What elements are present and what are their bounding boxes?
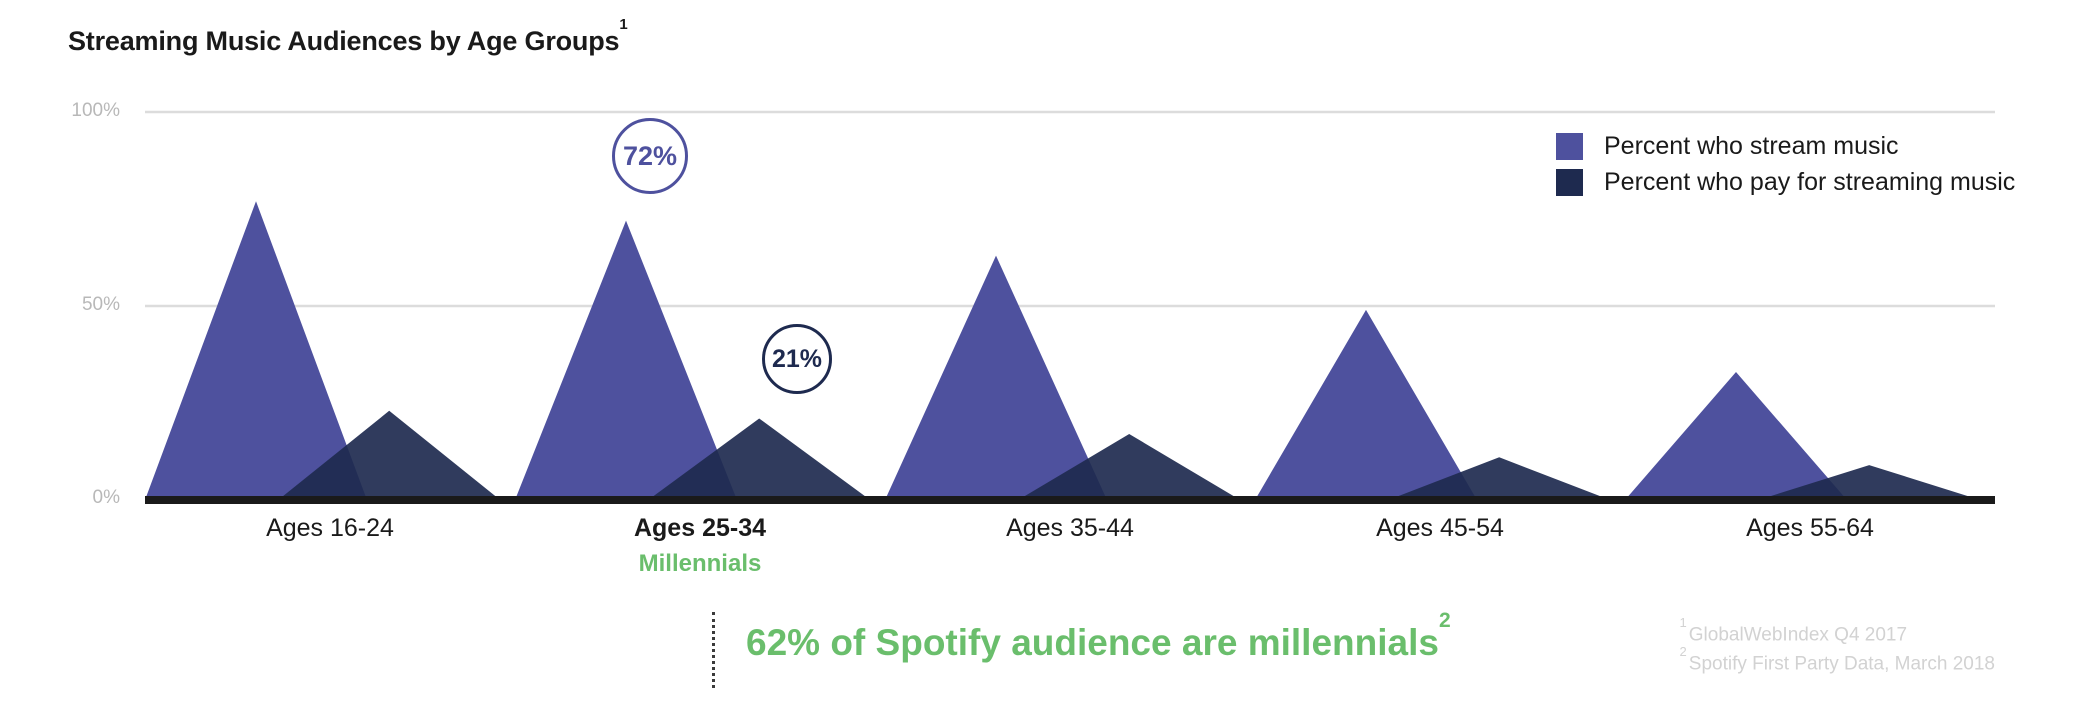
footnote-1-marker: 1 bbox=[1680, 615, 1687, 630]
footnote-1: 1GlobalWebIndex Q4 2017 bbox=[1680, 620, 1995, 649]
footnote-1-text: GlobalWebIndex Q4 2017 bbox=[1689, 624, 1907, 645]
x-axis-sublabel-millennials: Millennials bbox=[515, 550, 885, 578]
bottom-callout-text: 62% of Spotify audience are millennials bbox=[746, 622, 1439, 663]
footnote-2-text: Spotify First Party Data, March 2018 bbox=[1689, 654, 1995, 675]
legend-label-pay: Percent who pay for streaming music bbox=[1604, 168, 2015, 197]
bottom-callout: 62% of Spotify audience are millennials2 bbox=[712, 612, 1451, 688]
legend-swatch-purple-icon bbox=[1556, 133, 1583, 160]
legend-label-stream: Percent who stream music bbox=[1604, 132, 1899, 161]
y-tick-100: 100% bbox=[30, 100, 120, 122]
footnotes: 1GlobalWebIndex Q4 2017 2Spotify First P… bbox=[1680, 620, 1995, 679]
bottom-callout-footnote-marker: 2 bbox=[1439, 609, 1451, 632]
legend-item-pay[interactable]: Percent who pay for streaming music bbox=[1556, 164, 2015, 200]
x-axis-label-55-64: Ages 55-64 bbox=[1625, 514, 1995, 543]
x-axis: Ages 16-24 Ages 25-34 Millennials Ages 3… bbox=[145, 514, 1995, 578]
chart-legend: Percent who stream music Percent who pay… bbox=[1556, 128, 2015, 200]
y-tick-0: 0% bbox=[30, 487, 120, 509]
footnote-2: 2Spotify First Party Data, March 2018 bbox=[1680, 649, 1995, 678]
callout-badge-pay-millennials: 21% bbox=[762, 324, 832, 394]
x-axis-group-25-34: Ages 25-34 Millennials bbox=[515, 514, 885, 578]
chart-plot-area: 100% 50% 0% bbox=[0, 0, 2074, 540]
y-tick-50: 50% bbox=[30, 294, 120, 316]
chart-svg bbox=[0, 0, 2074, 540]
x-axis-group-55-64: Ages 55-64 bbox=[1625, 514, 1995, 578]
legend-swatch-navy-icon bbox=[1556, 169, 1583, 196]
x-axis-label-45-54: Ages 45-54 bbox=[1255, 514, 1625, 543]
legend-item-stream[interactable]: Percent who stream music bbox=[1556, 128, 2015, 164]
x-axis-group-16-24: Ages 16-24 bbox=[145, 514, 515, 578]
bottom-callout-text-wrapper: 62% of Spotify audience are millennials2 bbox=[746, 612, 1451, 661]
footnote-2-marker: 2 bbox=[1680, 644, 1687, 659]
x-axis-label-25-34: Ages 25-34 bbox=[515, 514, 885, 543]
y-axis: 100% 50% 0% bbox=[0, 0, 120, 540]
x-axis-label-35-44: Ages 35-44 bbox=[885, 514, 1255, 543]
callout-divider-dotted-line bbox=[712, 612, 718, 688]
callout-badge-stream-millennials: 72% bbox=[612, 118, 688, 194]
x-axis-label-16-24: Ages 16-24 bbox=[145, 514, 515, 543]
x-axis-group-35-44: Ages 35-44 bbox=[885, 514, 1255, 578]
x-axis-group-45-54: Ages 45-54 bbox=[1255, 514, 1625, 578]
